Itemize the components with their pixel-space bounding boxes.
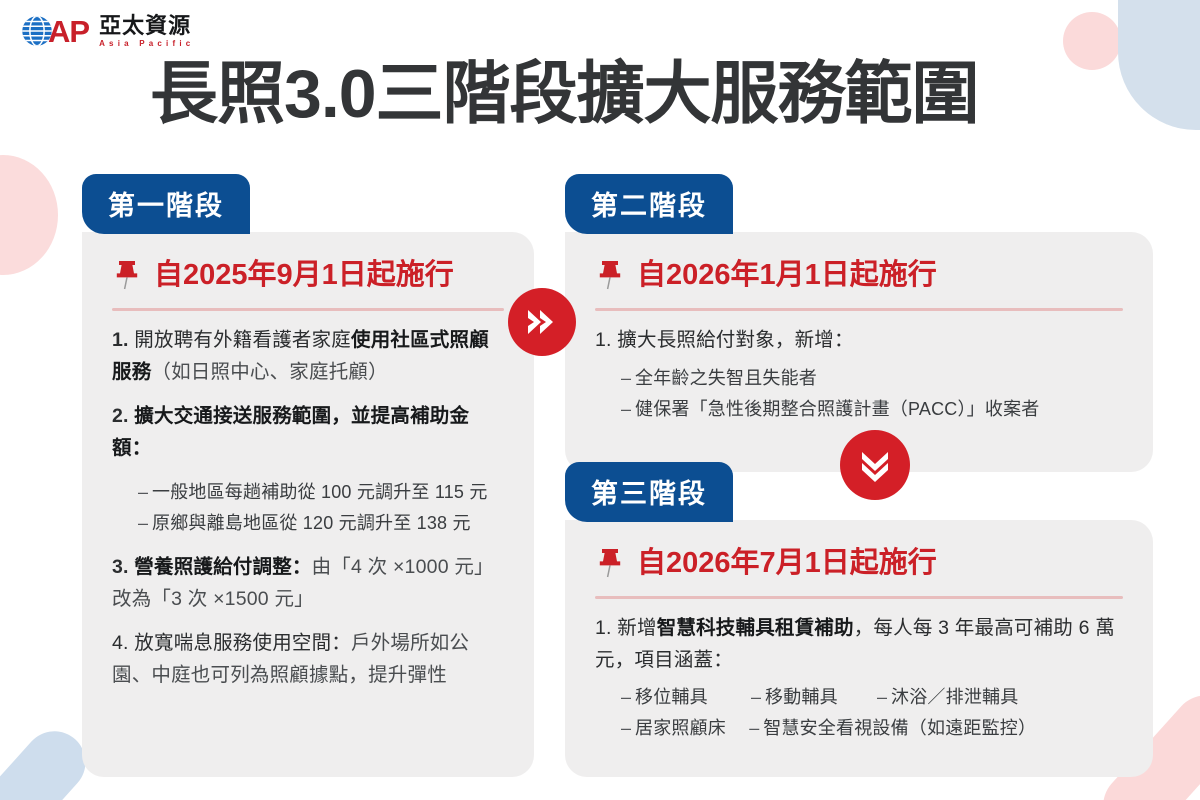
- dash-bullet: –: [877, 682, 891, 713]
- sub-text: 健保署「急性後期整合照護計畫（PACC）」收案者: [635, 399, 1039, 419]
- sub-text: 移動輔具: [765, 687, 838, 707]
- deco-circle-pink-left: [0, 155, 58, 275]
- list-item: 3. 營養照護給付調整：由「4 次 ×1000 元」改為「3 次 ×1500 元…: [112, 552, 504, 615]
- list-item-sub: –原鄉與離島地區從 120 元調升至 138 元: [112, 508, 504, 539]
- list-item: 1. 開放聘有外籍看護者家庭使用社區式照顧服務（如日照中心、家庭托顧）: [112, 325, 504, 388]
- stage-1-divider: [112, 308, 504, 311]
- item-text: 開放聘有外籍看護者家庭: [129, 329, 351, 351]
- stage-1-body: 自2025年9月1日起施行 1. 開放聘有外籍看護者家庭使用社區式照顧服務（如日…: [82, 232, 534, 777]
- item-text-note: （如日照中心、家庭托顧）: [151, 361, 387, 383]
- sub-text: 一般地區每趟補助從 100 元調升至 115 元: [152, 482, 488, 502]
- double-chevron-right-icon: [525, 307, 559, 337]
- list-item: 4. 放寬喘息服務使用空間：戶外場所如公園、中庭也可列為照顧據點，提升彈性: [112, 628, 504, 691]
- item-text-bold: 擴大交通接送服務範圍，並提高補助金額：: [112, 405, 469, 459]
- stage-1-date: 自2025年9月1日起施行: [154, 261, 454, 290]
- stage-1-date-row: 自2025年9月1日起施行: [112, 258, 504, 292]
- dash-bullet: –: [621, 682, 635, 713]
- item-number: 2.: [112, 405, 129, 427]
- list-item-sub: –移位輔具 –移動輔具 –沐浴／排泄輔具: [595, 682, 1123, 713]
- dash-bullet: –: [138, 477, 152, 508]
- connector-arrow-down: [840, 430, 910, 500]
- stage-3-divider: [595, 596, 1123, 599]
- double-chevron-down-icon: [859, 448, 891, 482]
- sub-text: 居家照顧床: [635, 718, 726, 738]
- list-item: 1. 擴大長照給付對象，新增：: [595, 325, 1123, 357]
- stage-3-date-row: 自2026年7月1日起施行: [595, 546, 1123, 580]
- logo-english-name: Asia Pacific: [99, 40, 194, 48]
- dash-bullet: –: [138, 508, 152, 539]
- stage-card-2: 第二階段 自2026年1月1日起施行 1. 擴大長照給付對象，新增： –全年齡之…: [565, 174, 1153, 472]
- item-number: 1.: [595, 617, 612, 639]
- logo-wordmark: 亞太資源 Asia Pacific: [99, 15, 194, 48]
- stage-3-item-list: 1. 新增智慧科技輔具租賃補助，每人每 3 年最高可補助 6 萬元，項目涵蓋： …: [595, 613, 1123, 744]
- item-text: 新增: [612, 617, 657, 639]
- list-item-sub: –全年齡之失智且失能者: [595, 363, 1123, 394]
- item-number: 1.: [595, 329, 612, 351]
- deco-circle-pink-top-right: [1063, 12, 1121, 70]
- list-item-sub: –一般地區每趟補助從 100 元調升至 115 元: [112, 477, 504, 508]
- dash-bullet: –: [621, 394, 635, 425]
- item-text-bold: 智慧科技輔具租賃補助: [657, 617, 854, 639]
- infographic-canvas: AP 亞太資源 Asia Pacific 長照3.0三階段擴大服務範圍 第一階段…: [0, 0, 1200, 800]
- dash-bullet: –: [621, 713, 635, 744]
- dash-bullet: –: [621, 363, 635, 394]
- stage-1-item-list: 1. 開放聘有外籍看護者家庭使用社區式照顧服務（如日照中心、家庭托顧） 2. 擴…: [112, 325, 504, 692]
- item-number: 1.: [112, 329, 129, 351]
- dash-bullet: –: [751, 682, 765, 713]
- page-title: 長照3.0三階段擴大服務範圍: [150, 60, 1070, 129]
- pushpin-icon: [112, 258, 142, 292]
- stage-card-3: 第三階段 自2026年7月1日起施行 1. 新增智慧科技輔具租賃補助，每人每 3…: [565, 462, 1153, 777]
- logo-ap-text: AP: [48, 16, 89, 47]
- sub-text: 智慧安全看視設備（如遠距監控）: [763, 718, 1036, 738]
- list-item-sub: –健保署「急性後期整合照護計畫（PACC）」收案者: [595, 394, 1123, 425]
- stage-3-body: 自2026年7月1日起施行 1. 新增智慧科技輔具租賃補助，每人每 3 年最高可…: [565, 520, 1153, 777]
- stage-3-date: 自2026年7月1日起施行: [637, 549, 937, 578]
- logo-chinese-name: 亞太資源: [99, 15, 194, 37]
- dash-bullet: –: [749, 713, 763, 744]
- stage-1-tab-label: 第一階段: [82, 174, 250, 234]
- item-number: 4.: [112, 632, 129, 654]
- sub-text: 全年齡之失智且失能者: [635, 368, 817, 388]
- stage-3-tab-label: 第三階段: [565, 462, 733, 522]
- stage-2-date-row: 自2026年1月1日起施行: [595, 258, 1123, 292]
- list-item: 1. 新增智慧科技輔具租賃補助，每人每 3 年最高可補助 6 萬元，項目涵蓋：: [595, 613, 1123, 676]
- stage-2-divider: [595, 308, 1123, 311]
- sub-text: 原鄉與離島地區從 120 元調升至 138 元: [152, 513, 471, 533]
- sub-text: 移位輔具: [635, 687, 708, 707]
- stage-2-item-list: 1. 擴大長照給付對象，新增： –全年齡之失智且失能者 –健保署「急性後期整合照…: [595, 325, 1123, 424]
- stage-2-date: 自2026年1月1日起施行: [637, 261, 937, 290]
- stage-2-tab-label: 第二階段: [565, 174, 733, 234]
- item-text-bold: 營養照護給付調整：: [129, 556, 312, 578]
- stage-card-1: 第一階段 自2025年9月1日起施行 1. 開放聘有外籍看護者家庭使用社區式照顧…: [82, 174, 534, 777]
- pushpin-icon: [595, 546, 625, 580]
- item-text: 放寬喘息服務使用空間：: [129, 632, 351, 654]
- sub-text: 沐浴／排泄輔具: [891, 687, 1018, 707]
- brand-logo: AP 亞太資源 Asia Pacific: [18, 12, 194, 50]
- deco-leaf-blue-top-right: [1118, 0, 1200, 130]
- item-number: 3.: [112, 556, 129, 578]
- list-item-sub: –居家照顧床 –智慧安全看視設備（如遠距監控）: [595, 713, 1123, 744]
- item-text: 擴大長照給付對象，新增：: [612, 329, 854, 351]
- pushpin-icon: [595, 258, 625, 292]
- list-item: 2. 擴大交通接送服務範圍，並提高補助金額：: [112, 401, 504, 464]
- connector-arrow-right: [508, 288, 576, 356]
